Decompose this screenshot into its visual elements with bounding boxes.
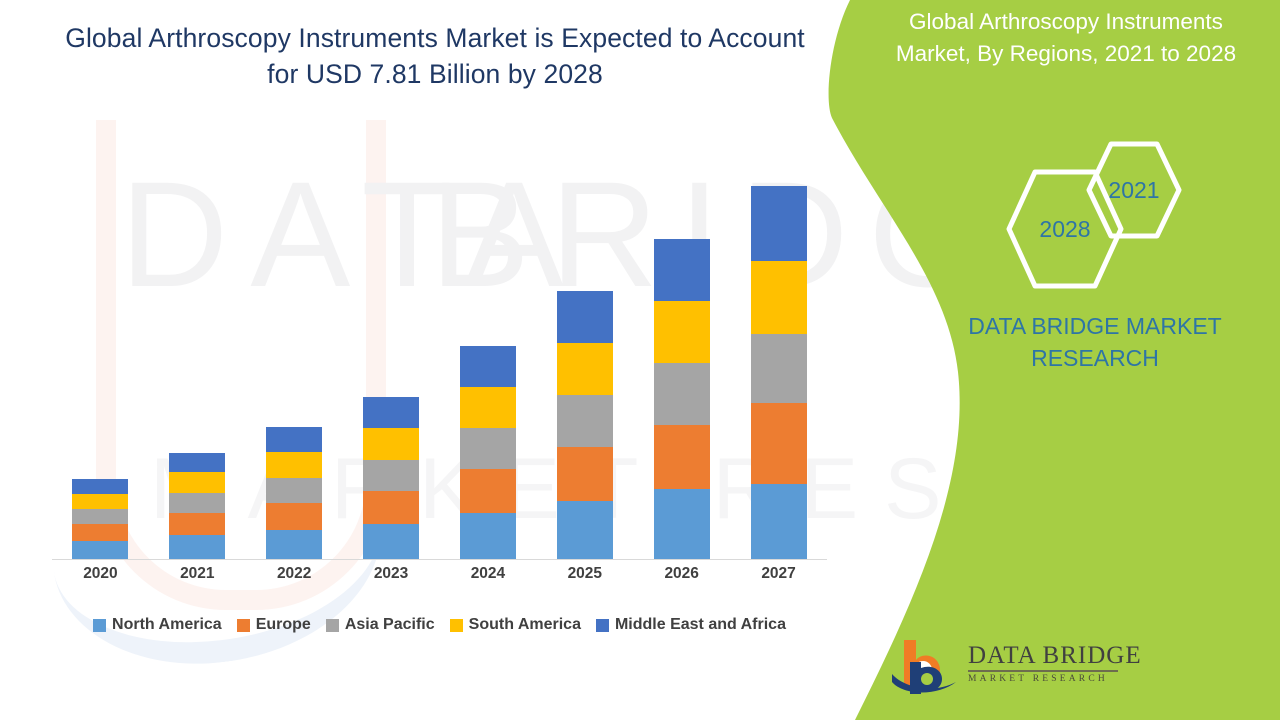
legend-label: South America <box>469 616 581 634</box>
bar-slot-2023[interactable] <box>343 90 440 559</box>
bar-segment[interactable] <box>654 489 710 559</box>
bar-segment[interactable] <box>557 343 613 395</box>
bar-segment[interactable] <box>72 509 128 524</box>
legend-swatch-icon <box>237 619 250 632</box>
bar-slot-2021[interactable] <box>149 90 246 559</box>
legend-label: Middle East and Africa <box>615 616 786 634</box>
bar-segment[interactable] <box>460 469 516 513</box>
chart-legend: North AmericaEuropeAsia PacificSouth Ame… <box>52 616 827 634</box>
bar-slot-2020[interactable] <box>52 90 149 559</box>
bar-segment[interactable] <box>266 530 322 559</box>
legend-swatch-icon <box>326 619 339 632</box>
logo-text: DATA BRIDGE MARKET RESEARCH <box>968 642 1118 684</box>
bar-segment[interactable] <box>460 346 516 387</box>
bar-segment[interactable] <box>266 427 322 452</box>
bar-group <box>52 90 827 559</box>
stacked-bar[interactable] <box>557 291 613 559</box>
bar-segment[interactable] <box>363 524 419 559</box>
legend-swatch-icon <box>596 619 609 632</box>
logo-main-text: DATA BRIDGE <box>968 642 1118 669</box>
stacked-bar[interactable] <box>460 346 516 559</box>
bar-slot-2025[interactable] <box>536 90 633 559</box>
bar-segment[interactable] <box>266 503 322 530</box>
bar-slot-2026[interactable] <box>633 90 730 559</box>
legend-item[interactable]: Middle East and Africa <box>596 616 786 634</box>
page-title: Global Arthroscopy Instruments Market is… <box>60 20 810 92</box>
bar-segment[interactable] <box>751 261 807 334</box>
logo-mark-icon <box>890 638 960 696</box>
stacked-bar[interactable] <box>654 239 710 559</box>
bar-segment[interactable] <box>557 291 613 343</box>
legend-item[interactable]: Asia Pacific <box>326 616 435 634</box>
panel-title: Global Arthroscopy Instruments Market, B… <box>876 6 1256 70</box>
legend-item[interactable]: North America <box>93 616 222 634</box>
x-axis-tick-2020: 2020 <box>52 565 149 591</box>
x-axis-tick-2026: 2026 <box>633 565 730 591</box>
stacked-bar[interactable] <box>169 453 225 559</box>
hexagon-2021-label: 2021 <box>1085 140 1183 240</box>
infographic-slide: DATA BRIDGE MARKET RESEARCH Global Arthr… <box>0 0 1280 720</box>
x-axis-line <box>52 559 827 560</box>
legend-label: Europe <box>256 616 311 634</box>
legend-item[interactable]: South America <box>450 616 581 634</box>
bar-segment[interactable] <box>751 484 807 559</box>
bar-segment[interactable] <box>72 479 128 494</box>
logo-sub-text: MARKET RESEARCH <box>968 674 1118 684</box>
bar-segment[interactable] <box>266 478 322 503</box>
bar-segment[interactable] <box>557 447 613 501</box>
stacked-bar[interactable] <box>72 479 128 559</box>
bar-segment[interactable] <box>460 513 516 559</box>
bar-segment[interactable] <box>654 239 710 301</box>
legend-item[interactable]: Europe <box>237 616 311 634</box>
bar-segment[interactable] <box>751 334 807 403</box>
bar-segment[interactable] <box>654 425 710 489</box>
bar-slot-2024[interactable] <box>440 90 537 559</box>
bar-segment[interactable] <box>460 387 516 428</box>
x-axis-tick-2021: 2021 <box>149 565 246 591</box>
bar-segment[interactable] <box>751 403 807 484</box>
brand-name: DATA BRIDGE MARKET RESEARCH <box>930 310 1260 374</box>
bar-segment[interactable] <box>169 472 225 493</box>
bar-segment[interactable] <box>363 428 419 460</box>
bar-segment[interactable] <box>654 363 710 425</box>
x-axis-tick-2023: 2023 <box>343 565 440 591</box>
bar-slot-2027[interactable] <box>730 90 827 559</box>
bar-segment[interactable] <box>654 301 710 363</box>
bar-segment[interactable] <box>169 513 225 535</box>
stacked-bar[interactable] <box>266 427 322 559</box>
x-axis-tick-2022: 2022 <box>246 565 343 591</box>
hexagon-2021: 2021 <box>1085 140 1183 240</box>
bar-segment[interactable] <box>363 460 419 491</box>
legend-swatch-icon <box>450 619 463 632</box>
bar-segment[interactable] <box>169 453 225 472</box>
bar-segment[interactable] <box>460 428 516 469</box>
logo-divider <box>968 670 1118 672</box>
bar-segment[interactable] <box>169 493 225 513</box>
stacked-bar-chart <box>52 90 827 560</box>
bar-segment[interactable] <box>751 186 807 261</box>
x-axis-labels: 20202021202220232024202520262027 <box>52 565 827 591</box>
legend-swatch-icon <box>93 619 106 632</box>
x-axis-tick-2024: 2024 <box>440 565 537 591</box>
hexagon-group: 2028 2021 <box>1005 140 1205 290</box>
x-axis-tick-2027: 2027 <box>730 565 827 591</box>
bar-segment[interactable] <box>557 395 613 447</box>
bar-segment[interactable] <box>557 501 613 559</box>
bar-segment[interactable] <box>363 397 419 428</box>
bar-segment[interactable] <box>72 524 128 541</box>
stacked-bar[interactable] <box>363 397 419 559</box>
bar-segment[interactable] <box>72 541 128 559</box>
bar-segment[interactable] <box>169 535 225 559</box>
bar-segment[interactable] <box>72 494 128 509</box>
stacked-bar[interactable] <box>751 186 807 559</box>
logo: DATA BRIDGE MARKET RESEARCH <box>890 636 1120 698</box>
x-axis-tick-2025: 2025 <box>536 565 633 591</box>
legend-label: North America <box>112 616 222 634</box>
legend-label: Asia Pacific <box>345 616 435 634</box>
bar-segment[interactable] <box>363 491 419 524</box>
bar-segment[interactable] <box>266 452 322 478</box>
bar-slot-2022[interactable] <box>246 90 343 559</box>
